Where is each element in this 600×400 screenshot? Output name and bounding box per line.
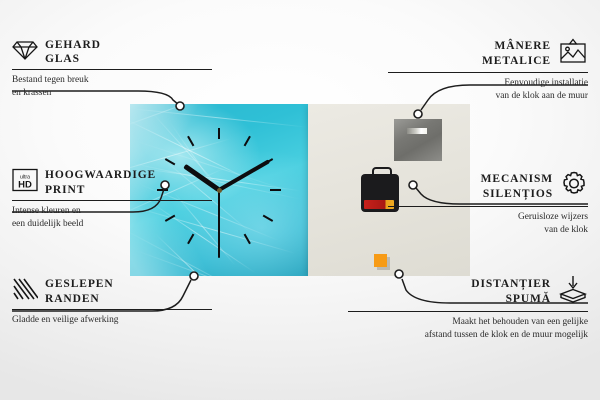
divider <box>388 206 588 207</box>
clock-tick <box>218 128 220 190</box>
metal-hanger <box>394 119 442 161</box>
feature-header: GEHARD GLAS <box>12 38 212 66</box>
feature-header: MÂNERE METALICE <box>388 38 588 69</box>
feature-title: GEHARD GLAS <box>45 38 101 66</box>
clock-center-pin <box>217 188 222 193</box>
beveled-edges-icon <box>12 277 38 306</box>
feature-title: GESLEPEN RANDEN <box>45 277 114 305</box>
feature-description: Intense kleuren en een duidelijk beeld <box>12 205 212 230</box>
feature-description: Maakt het behouden van een gelijke afsta… <box>348 316 588 341</box>
feature-title: DISTANȚIER SPUMĂ <box>471 277 551 305</box>
svg-text:HD: HD <box>18 180 32 191</box>
feather-streak <box>156 234 236 276</box>
divider <box>388 72 588 73</box>
feature-title: MECANISM SILENȚIOS <box>481 172 553 200</box>
divider <box>12 200 212 201</box>
feature-description: Geruisloze wijzers van de klok <box>388 211 588 236</box>
feature-header: MECANISM SILENȚIOS <box>388 170 588 203</box>
divider <box>12 309 212 310</box>
feature-geslepen-randen: GESLEPEN RANDEN Gladde en veilige afwerk… <box>12 277 212 327</box>
divider <box>348 311 588 312</box>
diamond-icon <box>12 39 38 66</box>
picture-frame-icon <box>558 38 588 69</box>
divider <box>12 69 212 70</box>
infographic-canvas: GEHARD GLAS Bestand tegen breuk en krass… <box>0 0 600 400</box>
feature-mecanism-silentios: MECANISM SILENȚIOS Geruisloze wijzers va… <box>388 170 588 236</box>
feature-header: ultra HD HOOGWAARDIGE PRINT <box>12 168 212 197</box>
feature-description: Bestand tegen breuk en krassen <box>12 74 212 99</box>
feature-distantier-spuma: DISTANȚIER SPUMĂ Maakt het behouden van … <box>348 275 588 341</box>
clock-tick <box>219 189 281 191</box>
feature-gehard-glas: GEHARD GLAS Bestand tegen breuk en krass… <box>12 38 212 99</box>
feature-description: Eenvoudige installatie van de klok aan d… <box>388 77 588 102</box>
feature-title: MÂNERE METALICE <box>482 39 551 67</box>
clock-second-hand <box>218 190 220 258</box>
foam-spacer <box>374 254 387 267</box>
gear-icon <box>560 170 588 203</box>
feature-description: Gladde en veilige afwerking <box>12 314 212 327</box>
spacer-stack-icon <box>558 275 588 308</box>
ultra-hd-icon: ultra HD <box>12 168 38 197</box>
feature-header: GESLEPEN RANDEN <box>12 277 212 306</box>
feature-header: DISTANȚIER SPUMĂ <box>348 275 588 308</box>
feature-hoogwaardige-print: ultra HD HOOGWAARDIGE PRINT Intense kleu… <box>12 168 212 230</box>
feature-manere-metalice: MÂNERE METALICE Eenvoudige installatie v… <box>388 38 588 102</box>
feature-title: HOOGWAARDIGE PRINT <box>45 168 156 196</box>
